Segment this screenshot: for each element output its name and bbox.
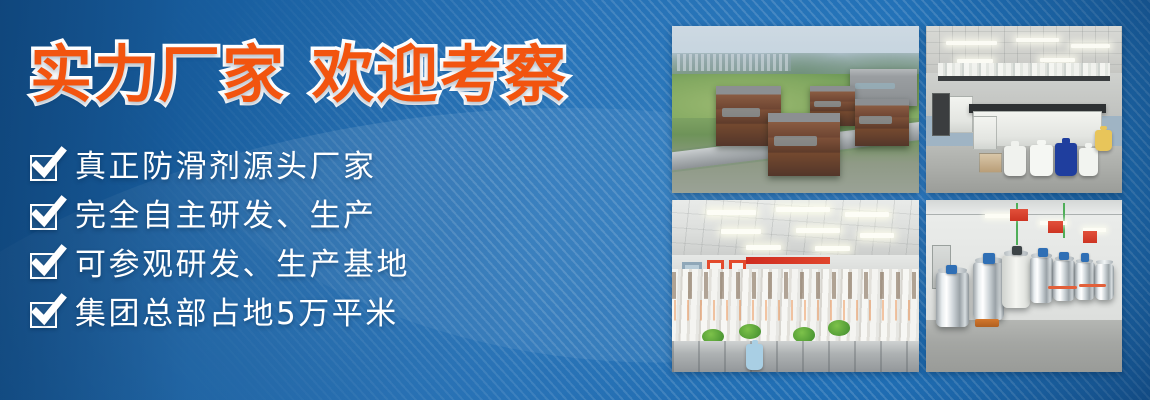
headline-column: 实力厂家欢迎考察 真正防滑剂源头厂家 完全自 bbox=[0, 0, 650, 400]
checkbox-checked-icon bbox=[30, 153, 60, 182]
office-staff-photo bbox=[672, 200, 919, 372]
headline-part-2: 欢迎考察 bbox=[312, 38, 568, 111]
production-workshop-photo bbox=[926, 200, 1122, 372]
list-item: 集团总部占地5万平米 bbox=[30, 290, 630, 339]
list-item: 完全自主研发、生产 bbox=[30, 192, 630, 241]
checkbox-checked-icon bbox=[30, 300, 60, 329]
checkbox-checked-icon bbox=[30, 251, 60, 280]
list-item-label: 集团总部占地5万平米 bbox=[75, 299, 399, 330]
list-item-label: 真正防滑剂源头厂家 bbox=[75, 152, 377, 183]
page-title: 实力厂家欢迎考察 bbox=[30, 44, 568, 106]
checkbox-checked-icon bbox=[30, 202, 60, 231]
feature-list: 真正防滑剂源头厂家 完全自主研发、生产 可参观研发、 bbox=[30, 143, 630, 339]
list-item-label: 可参观研发、生产基地 bbox=[75, 250, 410, 281]
laboratory-photo bbox=[926, 26, 1122, 193]
aerial-campus-photo bbox=[672, 26, 919, 193]
headline-part-1: 实力厂家 bbox=[30, 38, 286, 111]
list-item: 可参观研发、生产基地 bbox=[30, 241, 630, 290]
list-item: 真正防滑剂源头厂家 bbox=[30, 143, 630, 192]
list-item-label: 完全自主研发、生产 bbox=[75, 201, 377, 232]
photo-gallery bbox=[672, 26, 1122, 372]
factory-promo-banner: 实力厂家欢迎考察 真正防滑剂源头厂家 完全自 bbox=[0, 0, 1150, 400]
